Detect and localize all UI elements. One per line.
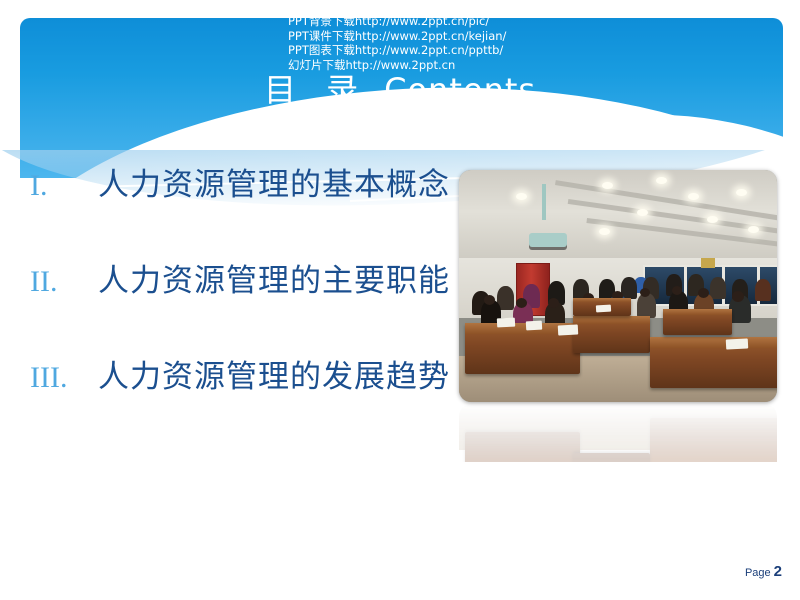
attendee-head	[516, 298, 527, 308]
notebook	[726, 339, 748, 350]
notebook	[596, 304, 611, 312]
ceiling	[459, 170, 777, 263]
watermark-line-3: PPT图表下载http://www.2ppt.cn/ppttb/	[288, 43, 506, 58]
classroom-photo	[459, 170, 777, 402]
desk	[650, 337, 777, 388]
attendee	[710, 277, 726, 299]
page-number: Page2	[745, 563, 782, 580]
ceiling-light	[748, 226, 759, 233]
reflected-desk	[465, 432, 579, 462]
contents-item-1-label: 人力资源管理的基本概念	[98, 163, 450, 207]
notebook	[497, 318, 515, 328]
desk-surface	[573, 298, 630, 302]
desk-surface	[663, 309, 733, 315]
photo-reflection	[459, 404, 777, 462]
page-number-value: 2	[774, 563, 782, 580]
contents-item-1[interactable]: I. 人力资源管理的基本概念	[30, 163, 470, 259]
desk-surface	[573, 316, 649, 324]
projector-mount	[542, 184, 546, 220]
wall-plaque	[701, 258, 715, 268]
contents-list: I. 人力资源管理的基本概念 II. 人力资源管理的主要职能 III. 人力资源…	[30, 163, 470, 451]
page-title-english: Contents	[384, 71, 536, 109]
photo-block	[459, 170, 777, 402]
watermark-line-1: PPT背景下载http://www.2ppt.cn/pic/	[288, 14, 506, 29]
ceiling-light	[656, 177, 667, 184]
contents-item-3[interactable]: III. 人力资源管理的发展趋势	[30, 355, 470, 451]
contents-item-2[interactable]: II. 人力资源管理的主要职能	[30, 259, 470, 355]
attendee-head	[548, 298, 559, 308]
page-title-chinese: 目 录	[264, 71, 368, 109]
projector	[529, 233, 567, 247]
watermark-line-2: PPT课件下载http://www.2ppt.cn/kejian/	[288, 29, 506, 44]
photo-reflection-content	[459, 404, 777, 462]
attendee	[621, 277, 637, 299]
desk-surface	[650, 337, 777, 348]
contents-item-3-label: 人力资源管理的发展趋势	[98, 355, 450, 399]
notebook	[526, 320, 542, 330]
ceiling-light	[599, 228, 610, 235]
page-number-label: Page	[745, 567, 771, 579]
reflected-desk	[573, 453, 649, 462]
desk	[573, 316, 649, 353]
attendee-head	[698, 288, 709, 298]
watermark-urls: PPT背景下载http://www.2ppt.cn/pic/ PPT课件下载ht…	[288, 14, 506, 72]
desk	[663, 309, 733, 335]
contents-item-2-label: 人力资源管理的主要职能	[98, 259, 450, 303]
ceiling-light	[602, 182, 613, 189]
attendee-head	[672, 286, 682, 295]
classroom-photo-content	[459, 170, 777, 402]
page-title: 目 录Contents	[0, 70, 800, 110]
ceiling-light	[736, 189, 747, 196]
slide-canvas: PPT背景下载http://www.2ppt.cn/pic/ PPT课件下载ht…	[0, 0, 800, 600]
notebook	[557, 325, 577, 336]
attendee	[755, 279, 771, 301]
contents-item-2-numeral: II.	[30, 260, 98, 304]
contents-item-3-numeral: III.	[30, 356, 98, 400]
reflected-desk	[650, 418, 777, 462]
contents-item-1-numeral: I.	[30, 164, 98, 208]
